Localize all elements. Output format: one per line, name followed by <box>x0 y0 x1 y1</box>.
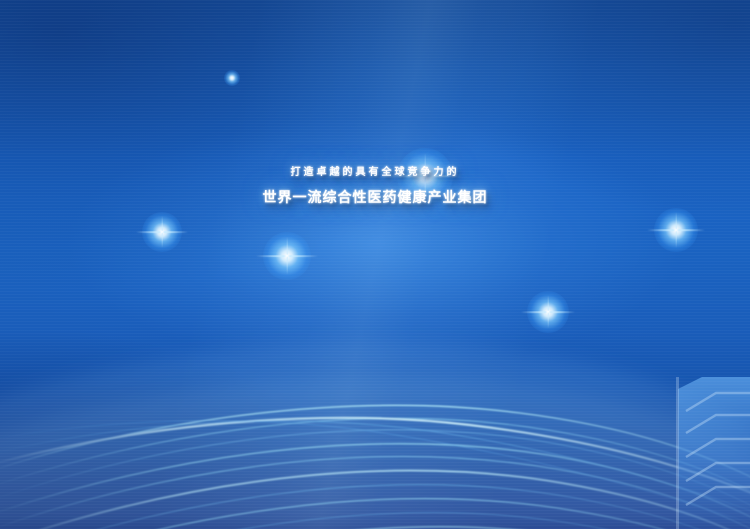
vision-banner: 打造卓越的具有全球竞争力的 世界一流综合性医药健康产业集团 <box>0 0 750 529</box>
headline-line-1: 打造卓越的具有全球竞争力的 <box>0 168 750 178</box>
headline-block: 打造卓越的具有全球竞争力的 世界一流综合性医药健康产业集团 <box>0 168 750 204</box>
sparkle-core <box>224 70 240 86</box>
chevron-tower-icon <box>630 349 750 529</box>
headline-line-2: 世界一流综合性医药健康产业集团 <box>0 190 750 204</box>
sparkle-faint-top-icon <box>224 70 240 86</box>
